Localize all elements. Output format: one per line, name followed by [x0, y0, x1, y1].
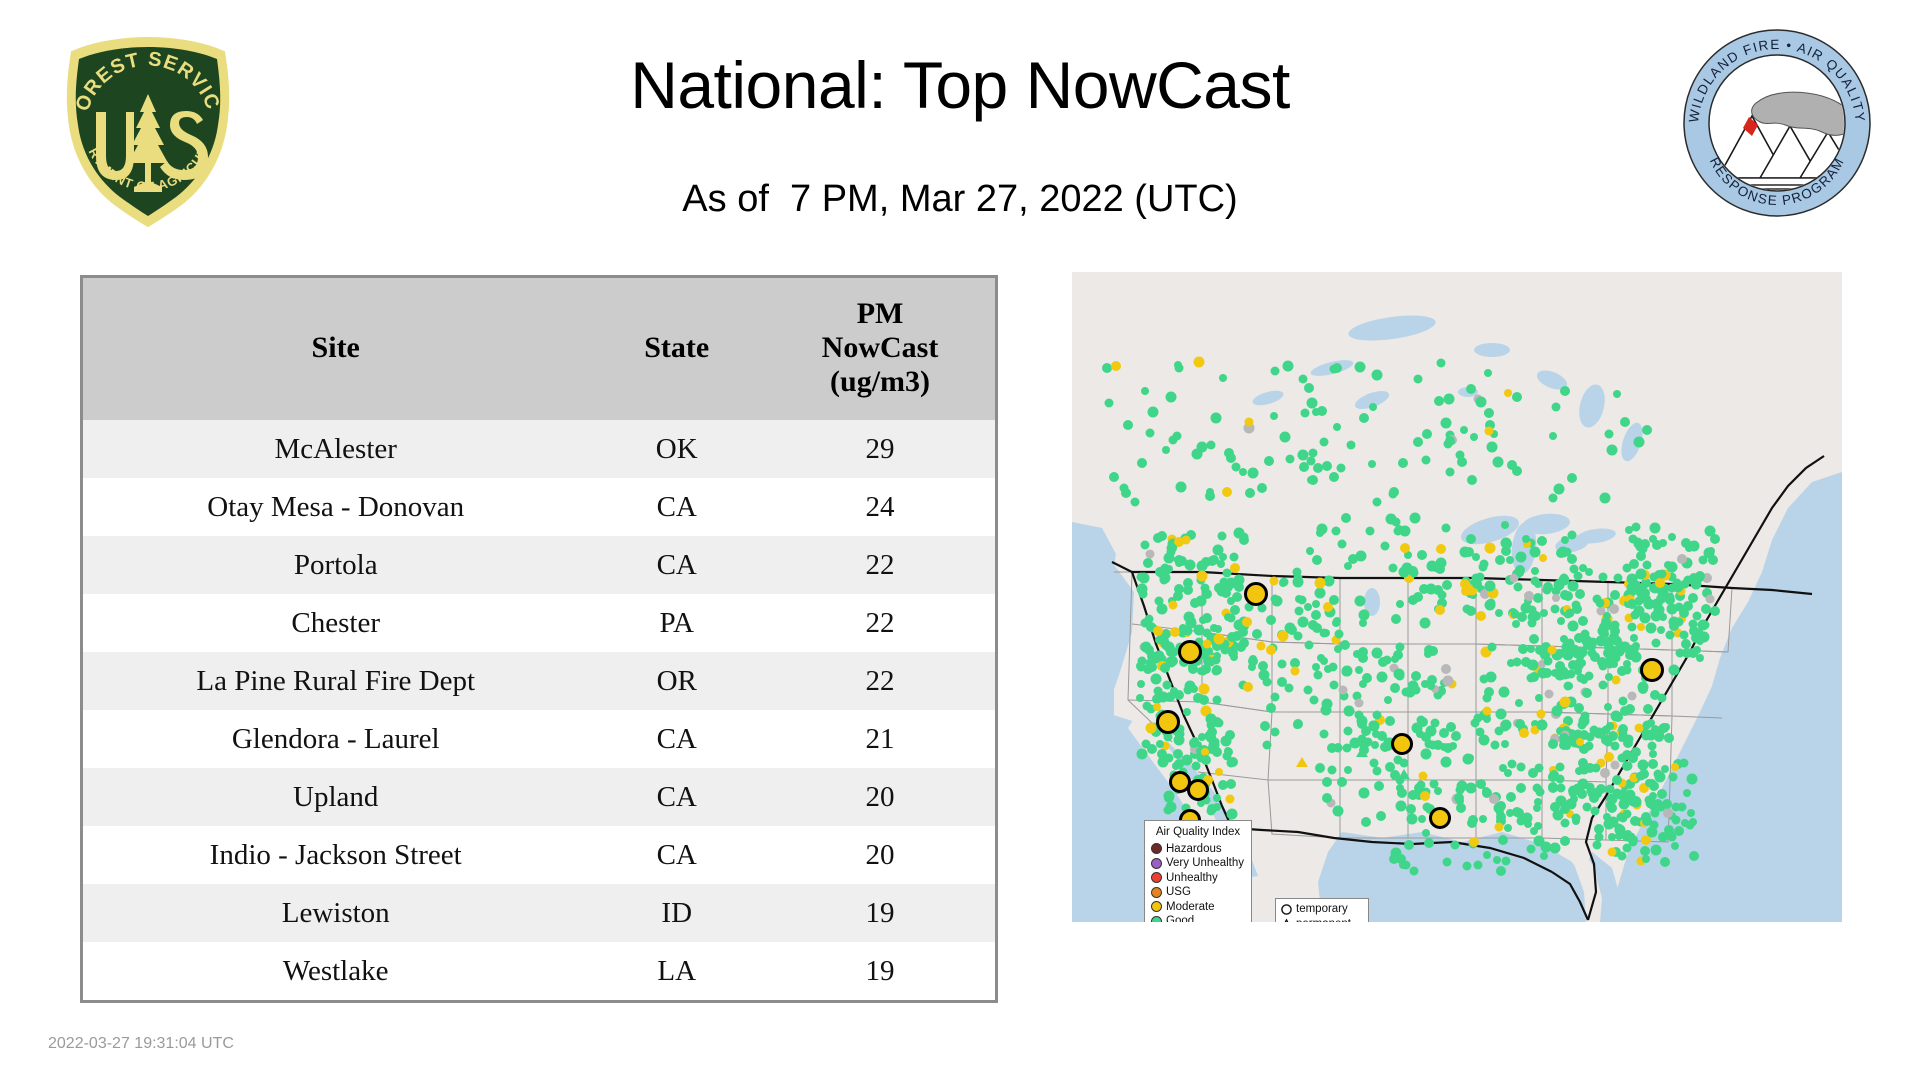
permanent-triangle-icon: [1280, 918, 1293, 922]
table-row[interactable]: LewistonID19: [83, 884, 995, 942]
site-type-temporary-label: temporary: [1296, 903, 1348, 916]
state-cell: CA: [588, 536, 765, 594]
site-type-legend: temporary permanent: [1275, 898, 1369, 922]
site-cell: Indio - Jackson Street: [83, 826, 588, 884]
top-site-marker[interactable]: [1244, 582, 1268, 606]
aqi-legend-row: Good: [1151, 914, 1245, 922]
value-cell: 24: [765, 478, 995, 536]
table-row[interactable]: Glendora - LaurelCA21: [83, 710, 995, 768]
column-header-pm-line1: PM: [769, 297, 991, 331]
state-cell: CA: [588, 768, 765, 826]
value-cell: 19: [765, 942, 995, 1000]
column-header-pm-line2: NowCast: [769, 331, 991, 365]
site-cell: Glendora - Laurel: [83, 710, 588, 768]
site-cell: Upland: [83, 768, 588, 826]
site-cell: Portola: [83, 536, 588, 594]
aqi-legend-swatch-icon: [1151, 843, 1162, 854]
site-cell: Chester: [83, 594, 588, 652]
value-cell: 22: [765, 536, 995, 594]
footer-timestamp: 2022-03-27 19:31:04 UTC: [48, 1036, 234, 1052]
aqi-legend-row: Very Unhealthy: [1151, 856, 1245, 871]
site-cell: McAlester: [83, 420, 588, 478]
value-cell: 22: [765, 652, 995, 710]
aqi-legend-swatch-icon: [1151, 901, 1162, 912]
site-cell: Otay Mesa - Donovan: [83, 478, 588, 536]
aqi-legend-label: Very Unhealthy: [1166, 857, 1244, 870]
top-site-marker[interactable]: [1187, 779, 1209, 801]
aqi-legend-label: Good: [1166, 915, 1194, 922]
column-header-state: State: [588, 278, 765, 420]
top-nowcast-table: Site State PM NowCast (ug/m3) McAlesterO…: [80, 275, 998, 1003]
aqi-legend-label: USG: [1166, 886, 1191, 899]
page-subtitle: As of 7 PM, Mar 27, 2022 (UTC): [0, 180, 1920, 218]
value-cell: 22: [765, 594, 995, 652]
aqi-legend-label: Moderate: [1166, 901, 1215, 914]
top-site-marker[interactable]: [1391, 733, 1413, 755]
wfaqrp-logo: WILDLAND FIRE • AIR QUALITY RESPONSE PRO…: [1682, 28, 1872, 218]
table-row[interactable]: La Pine Rural Fire DeptOR22: [83, 652, 995, 710]
value-cell: 21: [765, 710, 995, 768]
value-cell: 29: [765, 420, 995, 478]
site-cell: Westlake: [83, 942, 588, 1000]
table-row[interactable]: UplandCA20: [83, 768, 995, 826]
state-cell: PA: [588, 594, 765, 652]
aqi-legend-row: Moderate: [1151, 900, 1245, 915]
state-cell: ID: [588, 884, 765, 942]
state-cell: OR: [588, 652, 765, 710]
aqi-legend-label: Unhealthy: [1166, 872, 1218, 885]
table-row[interactable]: ChesterPA22: [83, 594, 995, 652]
aqi-legend-swatch-icon: [1151, 916, 1162, 922]
aqi-legend-swatch-icon: [1151, 887, 1162, 898]
site-type-temporary: temporary: [1280, 902, 1364, 917]
state-cell: OK: [588, 420, 765, 478]
value-cell: 20: [765, 768, 995, 826]
aqi-legend-row: Hazardous: [1151, 842, 1245, 857]
value-cell: 20: [765, 826, 995, 884]
national-monitor-map[interactable]: Air Quality Index HazardousVery Unhealth…: [1072, 272, 1842, 922]
site-type-permanent-label: permanent: [1296, 918, 1351, 922]
top-site-marker[interactable]: [1640, 658, 1664, 682]
aqi-legend: Air Quality Index HazardousVery Unhealth…: [1144, 820, 1252, 922]
top-site-marker[interactable]: [1178, 640, 1202, 664]
aqi-legend-title: Air Quality Index: [1151, 826, 1245, 839]
site-cell: La Pine Rural Fire Dept: [83, 652, 588, 710]
site-cell: Lewiston: [83, 884, 588, 942]
value-cell: 19: [765, 884, 995, 942]
aqi-legend-swatch-icon: [1151, 872, 1162, 883]
top-site-marker[interactable]: [1156, 710, 1180, 734]
state-cell: CA: [588, 826, 765, 884]
aqi-legend-row: Unhealthy: [1151, 871, 1245, 886]
top-site-marker[interactable]: [1429, 807, 1451, 829]
state-cell: CA: [588, 478, 765, 536]
table-row[interactable]: Otay Mesa - DonovanCA24: [83, 478, 995, 536]
aqi-legend-swatch-icon: [1151, 858, 1162, 869]
state-cell: LA: [588, 942, 765, 1000]
state-cell: CA: [588, 710, 765, 768]
table-header-row: Site State PM NowCast (ug/m3): [83, 278, 995, 420]
temporary-circle-icon: [1280, 903, 1293, 916]
table-row[interactable]: Indio - Jackson StreetCA20: [83, 826, 995, 884]
column-header-pm-nowcast: PM NowCast (ug/m3): [765, 278, 995, 420]
table-row[interactable]: WestlakeLA19: [83, 942, 995, 1000]
aqi-legend-label: Hazardous: [1166, 843, 1222, 856]
wfaqrp-seal-icon: WILDLAND FIRE • AIR QUALITY RESPONSE PRO…: [1682, 28, 1872, 218]
aqi-legend-row: USG: [1151, 885, 1245, 900]
table-row[interactable]: McAlesterOK29: [83, 420, 995, 478]
table-row[interactable]: PortolaCA22: [83, 536, 995, 594]
column-header-pm-line3: (ug/m3): [769, 365, 991, 399]
page-title: National: Top NowCast: [0, 52, 1920, 118]
site-type-permanent: permanent: [1280, 917, 1364, 922]
column-header-site: Site: [83, 278, 588, 420]
